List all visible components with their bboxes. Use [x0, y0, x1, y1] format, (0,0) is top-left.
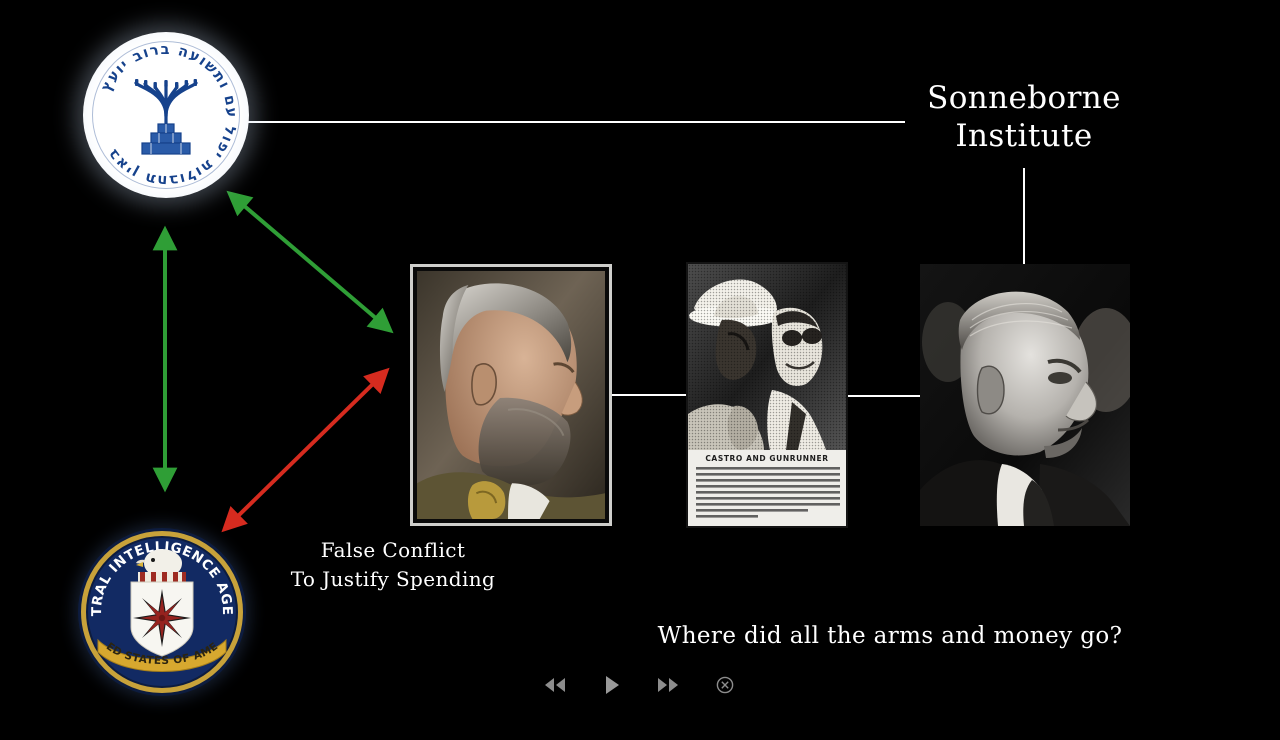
question-label: Where did all the arms and money go?: [560, 622, 1220, 650]
clipping-photo: [688, 264, 846, 450]
clipping-body-text: [688, 464, 846, 524]
connector-mossad-to-sonneborne: [245, 121, 905, 123]
false-conflict-line-2: To Justify Spending: [253, 565, 533, 594]
rewind-button[interactable]: [540, 672, 570, 698]
arrow-cia-castro: [236, 382, 375, 518]
fast-forward-button[interactable]: [653, 672, 683, 698]
arrow-mossad-castro: [242, 204, 378, 320]
connector-castro-to-clipping: [612, 394, 688, 396]
close-icon: [716, 676, 734, 694]
cia-seal: CENTRAL INTELLIGENCE AGENCY: [78, 528, 246, 696]
sonneborne-line-1: Sonneborne: [874, 80, 1174, 118]
close-button[interactable]: [710, 672, 740, 698]
false-conflict-line-1: False Conflict: [253, 536, 533, 565]
play-button[interactable]: [597, 672, 627, 698]
connector-clipping-to-ruby: [848, 395, 920, 397]
sonneborne-institute-label: Sonneborne Institute: [874, 80, 1174, 156]
slide-canvas: באין תחבולות יפול עם ותשועה ברוב יועץ: [0, 0, 1280, 720]
castro-photo: [417, 271, 605, 519]
media-controls: [540, 670, 740, 700]
play-icon: [604, 676, 620, 694]
ruby-photo: [920, 264, 1130, 526]
false-conflict-label: False Conflict To Justify Spending: [253, 536, 533, 594]
newspaper-clipping: CASTRO AND GUNRUNNER #clipping-frame > d…: [686, 262, 848, 528]
connector-sonneborne-to-ruby: [1023, 168, 1025, 264]
menorah-icon: [129, 72, 203, 158]
mossad-seal: באין תחבולות יפול עם ותשועה ברוב יועץ: [83, 32, 249, 198]
clipping-caption: CASTRO AND GUNRUNNER: [688, 450, 846, 464]
fast-forward-icon: [657, 678, 679, 692]
rewind-icon: [544, 678, 566, 692]
cia-banner: UNITED STATES OF AMERICA: [94, 632, 230, 688]
castro-photo-frame: [410, 264, 612, 526]
sonneborne-line-2: Institute: [874, 118, 1174, 156]
